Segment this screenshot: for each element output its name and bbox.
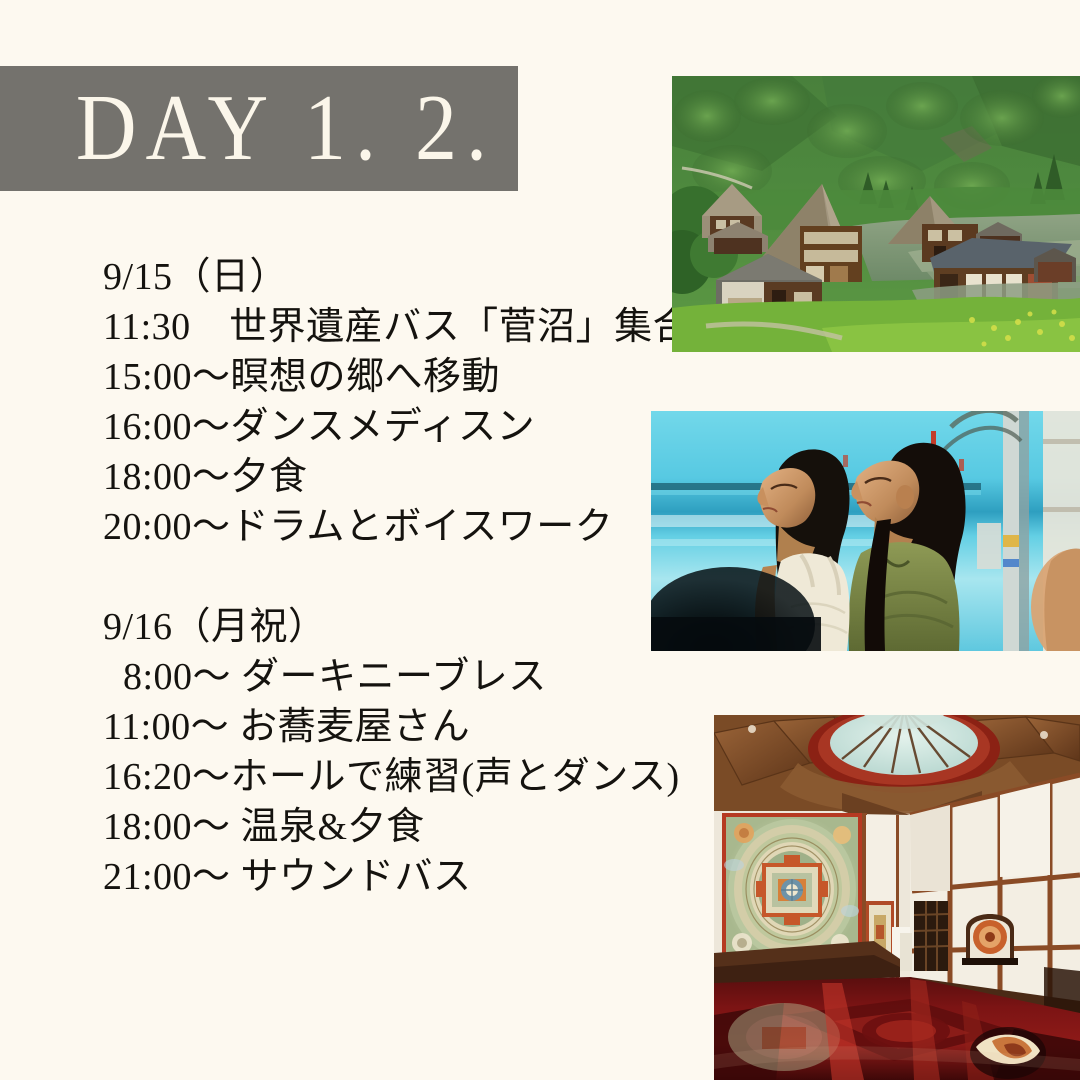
day-1-entry-5: 20:00〜ドラムとボイスワーク bbox=[103, 502, 683, 552]
day-1-entry-2: 15:00〜瞑想の郷へ移動 bbox=[103, 352, 683, 402]
day-2-entry-4: 18:00〜 温泉&夕食 bbox=[103, 802, 683, 852]
gassho-village-photo bbox=[672, 76, 1080, 352]
day-2-entry-3: 16:20〜ホールで練習(声とダンス) bbox=[103, 752, 683, 802]
schedule-day-1: 9/15（日） 11:30 世界遺産バス「菅沼」集合 15:00〜瞑想の郷へ移動… bbox=[103, 252, 683, 552]
day-2-date: 9/16（月祝） bbox=[103, 602, 683, 652]
day-1-date: 9/15（日） bbox=[103, 252, 683, 302]
slide-canvas: DAY 1. 2. 9/15（日） 11:30 世界遺産バス「菅沼」集合 15:… bbox=[0, 0, 1080, 1080]
schedule-list: 9/15（日） 11:30 世界遺産バス「菅沼」集合 15:00〜瞑想の郷へ移動… bbox=[103, 252, 683, 902]
breathwork-photo bbox=[651, 411, 1080, 651]
day-1-entry-4: 18:00〜夕食 bbox=[103, 452, 683, 502]
schedule-day-2: 9/16（月祝） 8:00〜 ダーキニーブレス 11:00〜 お蕎麦屋さん 16… bbox=[103, 602, 683, 902]
meditation-hall-photo bbox=[714, 715, 1080, 1080]
schedule-spacer bbox=[103, 552, 683, 602]
day-2-entry-5: 21:00〜 サウンドバス bbox=[103, 852, 683, 902]
page-title: DAY 1. 2. bbox=[76, 81, 496, 175]
day-2-entry-2: 11:00〜 お蕎麦屋さん bbox=[103, 702, 683, 752]
title-band: DAY 1. 2. bbox=[0, 66, 518, 191]
day-1-entry-3: 16:00〜ダンスメディスン bbox=[103, 402, 683, 452]
day-2-entry-1: 8:00〜 ダーキニーブレス bbox=[103, 652, 683, 702]
day-1-entry-1: 11:30 世界遺産バス「菅沼」集合 bbox=[103, 302, 683, 352]
